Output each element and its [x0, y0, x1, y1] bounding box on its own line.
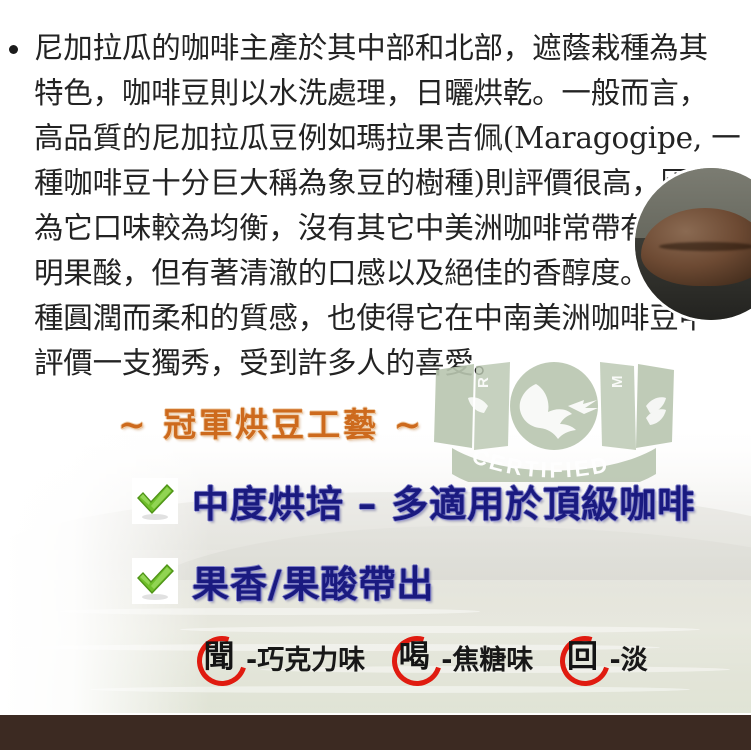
- slide-root: 尼加拉瓜的咖啡主產於其中部和北部，遮蔭栽種為其 特色，咖啡豆則以水洗處理，日曬烘…: [0, 0, 751, 750]
- tasting-note-label: -淡: [609, 638, 647, 677]
- coffee-bean-circle-photo: [635, 168, 751, 320]
- tasting-note-smell: 聞 -巧克力味: [196, 634, 365, 680]
- seal-letter-left: R: [475, 377, 492, 388]
- red-circle-mark-icon: 回: [559, 634, 605, 680]
- certified-seal-watermark: R M CERTIFIED: [432, 362, 676, 482]
- bullet-dot-icon: [9, 45, 18, 54]
- feature-row-aroma: 果香/果酸帶出: [132, 554, 435, 608]
- tasting-note-taste: 喝 -焦糖味: [391, 634, 533, 680]
- feature-row-roast: 中度烘培 – 多適用於頂級咖啡: [132, 474, 695, 528]
- green-check-icon: [132, 558, 178, 604]
- red-circle-mark-icon: 聞: [196, 634, 242, 680]
- tasting-notes-row: 聞 -巧克力味 喝 -焦糖味 回 -淡: [196, 634, 648, 680]
- bottom-bar: [0, 713, 751, 750]
- tasting-note-aftertaste: 回 -淡: [559, 634, 647, 680]
- red-circle-mark-icon: 喝: [391, 634, 437, 680]
- feature-label-aroma: 果香/果酸帶出: [192, 554, 435, 608]
- tasting-note-glyph: 回: [559, 634, 605, 680]
- page-title: ~ 冠軍烘豆工藝 ~: [118, 398, 424, 446]
- paragraph-line: 尼加拉瓜的咖啡主產於其中部和北部，遮蔭栽種為其: [34, 26, 751, 71]
- tasting-note-glyph: 喝: [391, 634, 437, 680]
- tasting-note-glyph: 聞: [196, 634, 242, 680]
- seal-letter-right: M: [609, 376, 626, 389]
- feature-label-roast: 中度烘培 – 多適用於頂級咖啡: [192, 474, 695, 528]
- coffee-bean-crease: [659, 242, 751, 251]
- paragraph-line: 高品質的尼加拉瓜豆例如瑪拉果吉佩(Maragogipe, 一: [34, 116, 751, 161]
- tasting-note-label: -巧克力味: [246, 638, 365, 677]
- tasting-note-label: -焦糖味: [441, 638, 533, 677]
- paragraph-line: 特色，咖啡豆則以水洗處理，日曬烘乾。一般而言，: [34, 71, 751, 116]
- green-check-icon: [132, 478, 178, 524]
